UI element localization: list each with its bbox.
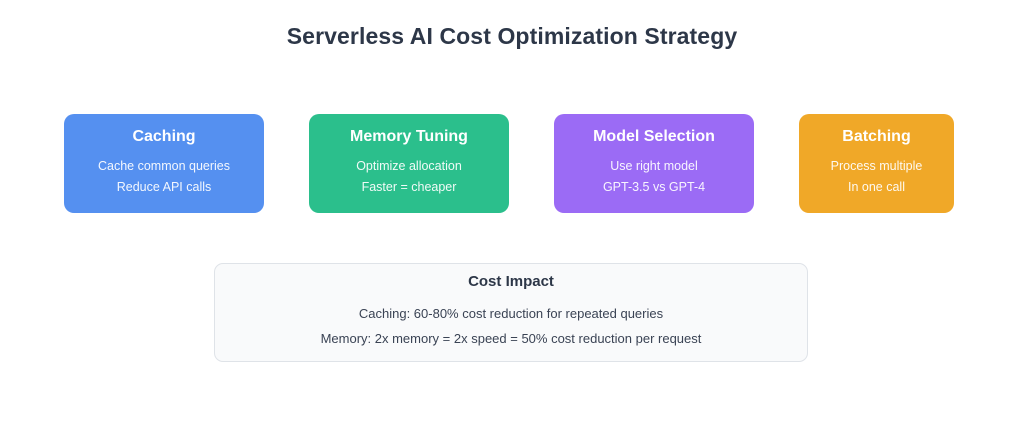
diagram-canvas: Serverless AI Cost Optimization Strategy… (0, 0, 1024, 429)
card-detail-memory-tuning-1: Optimize allocation (356, 156, 462, 177)
page-title: Serverless AI Cost Optimization Strategy (0, 23, 1024, 50)
card-detail-caching-1: Cache common queries (98, 156, 230, 177)
card-detail-model-selection-1: Use right model (610, 156, 698, 177)
strategy-card-memory-tuning[interactable]: Memory Tuning Optimize allocation Faster… (309, 114, 509, 213)
card-detail-batching-1: Process multiple (831, 156, 923, 177)
cost-impact-title: Cost Impact (468, 273, 554, 290)
card-detail-batching-2: In one call (848, 177, 905, 198)
strategy-card-row: Caching Cache common queries Reduce API … (64, 114, 960, 213)
strategy-card-caching[interactable]: Caching Cache common queries Reduce API … (64, 114, 264, 213)
card-title-caching: Caching (132, 127, 195, 146)
cost-impact-panel: Cost Impact Caching: 60-80% cost reducti… (214, 263, 808, 362)
card-title-batching: Batching (842, 127, 910, 146)
cost-impact-line-memory: Memory: 2x memory = 2x speed = 50% cost … (321, 327, 702, 352)
card-detail-model-selection-2: GPT-3.5 vs GPT-4 (603, 177, 705, 198)
card-detail-caching-2: Reduce API calls (117, 177, 212, 198)
card-title-memory-tuning: Memory Tuning (350, 127, 468, 146)
strategy-card-batching[interactable]: Batching Process multiple In one call (799, 114, 954, 213)
card-title-model-selection: Model Selection (593, 127, 715, 146)
card-detail-memory-tuning-2: Faster = cheaper (362, 177, 457, 198)
cost-impact-line-caching: Caching: 60-80% cost reduction for repea… (359, 302, 663, 327)
strategy-card-model-selection[interactable]: Model Selection Use right model GPT-3.5 … (554, 114, 754, 213)
